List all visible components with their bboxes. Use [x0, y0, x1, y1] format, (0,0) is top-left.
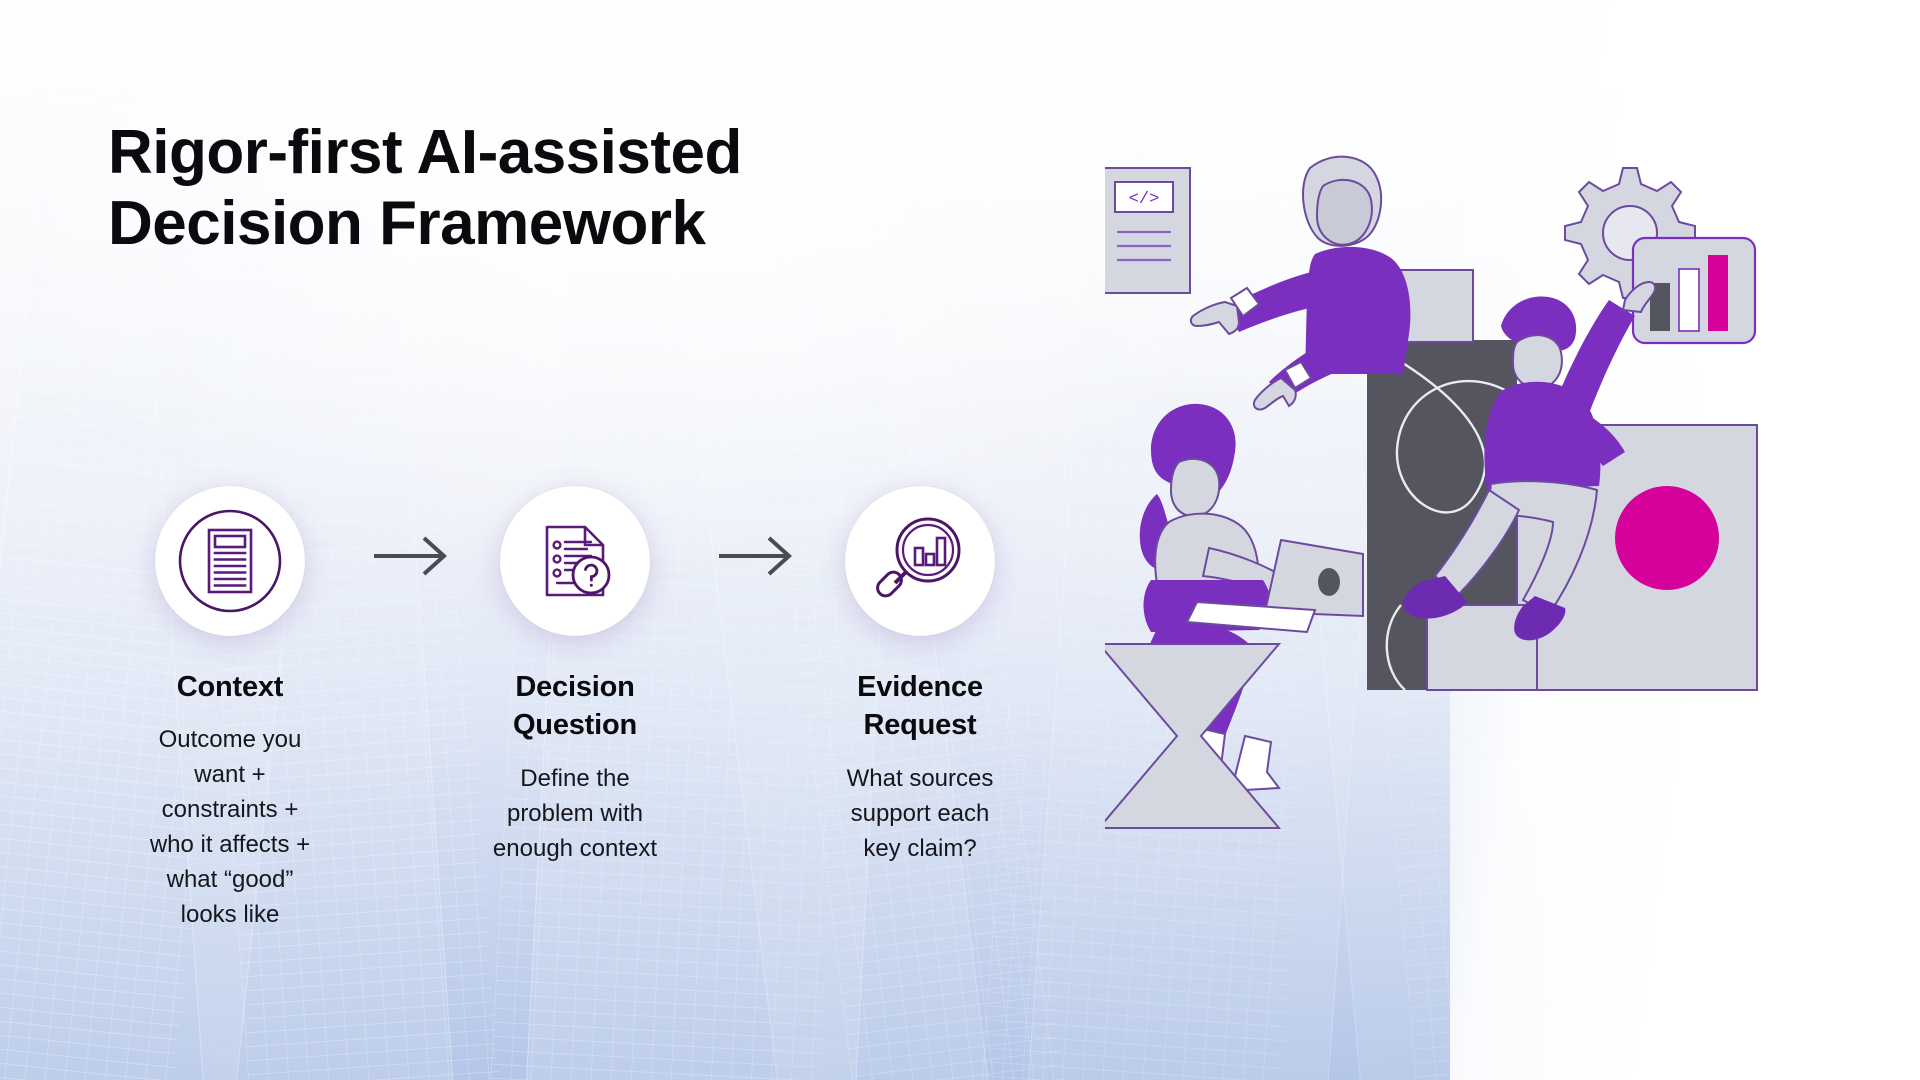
- step-evidence-request[interactable]: Evidence Request What sources support ea…: [780, 486, 1060, 866]
- step-evidence-request-title: Evidence Request: [780, 668, 1060, 745]
- code-document-card: </>: [1105, 168, 1190, 293]
- step-context[interactable]: Context Outcome you want + constraints +…: [90, 486, 370, 932]
- page-title: Rigor-first AI-assisted Decision Framewo…: [108, 118, 1008, 259]
- step-decision-question-title-line-1: Decision: [515, 671, 634, 703]
- team-data-analysis-illustration: .gy{fill:#D5D7E0;} .gy2{fill:#C8CAD6;} .…: [1105, 150, 1905, 910]
- framework-steps: Context Outcome you want + constraints +…: [90, 486, 1100, 1016]
- step-decision-question-desc-line-3: enough context: [493, 835, 657, 862]
- chart-bar-2: [1679, 269, 1699, 331]
- step-context-desc-line-1: Outcome you: [159, 726, 302, 753]
- step-context-title-line-1: Context: [177, 671, 284, 703]
- step-context-desc-line-6: looks like: [181, 901, 280, 928]
- page-title-line-1: Rigor-first AI-assisted: [108, 118, 1008, 189]
- step-decision-question-icon-disc[interactable]: [500, 486, 650, 636]
- chart-bar-3: [1708, 255, 1728, 331]
- step-decision-question-desc-line-1: Define the: [520, 765, 629, 792]
- step-evidence-request-desc-line-1: What sources: [847, 765, 994, 792]
- step-context-icon-disc[interactable]: [155, 486, 305, 636]
- step-context-description: Outcome you want + constraints + who it …: [90, 722, 370, 932]
- step-decision-question-desc-line-2: problem with: [507, 800, 643, 827]
- seated-woman-with-laptop: [1105, 404, 1363, 828]
- step-context-desc-line-4: who it affects +: [150, 831, 310, 858]
- step-evidence-request-title-line-1: Evidence: [857, 671, 983, 703]
- standing-woman-pointing: [1191, 157, 1410, 410]
- step-context-desc-line-2: want +: [194, 761, 265, 788]
- code-glyph: </>: [1129, 190, 1160, 209]
- step-decision-question-description: Define the problem with enough context: [435, 761, 715, 866]
- step-evidence-request-desc-line-2: support each: [851, 800, 990, 827]
- step-evidence-request-description: What sources support each key claim?: [780, 761, 1060, 866]
- step-context-desc-line-5: what “good”: [167, 866, 294, 893]
- step-decision-question-title-line-2: Question: [513, 709, 637, 741]
- step-evidence-request-icon-disc[interactable]: [845, 486, 995, 636]
- step-decision-question-title: Decision Question: [435, 668, 715, 745]
- page-title-line-2: Decision Framework: [108, 189, 1008, 260]
- step-evidence-request-title-line-2: Request: [863, 709, 976, 741]
- step-context-desc-line-3: constraints +: [162, 796, 299, 823]
- step-decision-question[interactable]: Decision Question Define the problem wit…: [435, 486, 715, 866]
- step-decision-question-icon-wrap: [435, 486, 715, 636]
- magnifier-bar-chart-icon: [862, 503, 978, 619]
- step-context-title: Context: [90, 668, 370, 706]
- step-evidence-request-icon-wrap: [780, 486, 1060, 636]
- step-context-icon-wrap: [90, 486, 370, 636]
- magenta-circle: [1615, 486, 1719, 590]
- document-lines-icon: [172, 503, 288, 619]
- document-question-icon: [517, 503, 633, 619]
- step-evidence-request-desc-line-3: key claim?: [863, 835, 976, 862]
